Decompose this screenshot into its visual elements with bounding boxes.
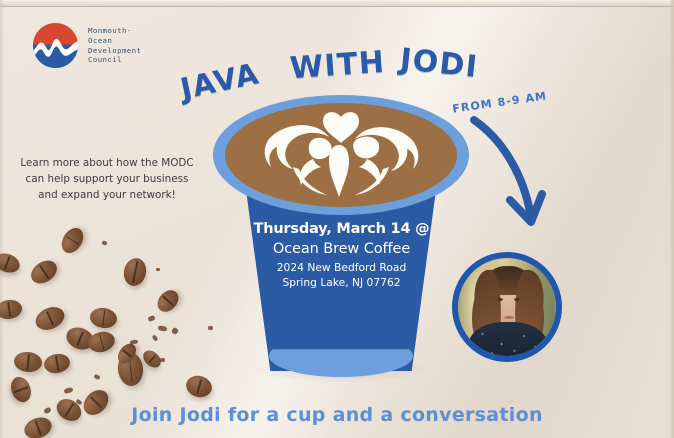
modc-circle-logo-icon: [32, 22, 79, 69]
blurb-text: Learn more about how the MODC can help s…: [8, 155, 206, 203]
portrait-mouth: [504, 316, 514, 319]
left-edge-shade: [0, 0, 4, 438]
avatar: [452, 252, 562, 362]
event-flyer: Monmouth- Ocean Development Council JAVA…: [0, 0, 674, 438]
logo-wordmark: Monmouth- Ocean Development Council: [88, 26, 141, 64]
top-edge-line: [0, 6, 674, 7]
tagline: Join Jodi for a cup and a conversation: [0, 404, 674, 426]
event-details: Thursday, March 14 @ Ocean Brew Coffee 2…: [233, 219, 450, 290]
latte-art-icon: [253, 109, 429, 201]
event-venue: Ocean Brew Coffee: [233, 239, 450, 260]
event-city-state-zip: Spring Lake, NJ 07762: [233, 275, 450, 290]
event-address: 2024 New Bedford Road: [233, 260, 450, 275]
portrait-eye-right: [514, 298, 520, 301]
blurb-line-2: can help support your business: [8, 171, 206, 187]
blurb-line-3: and expand your network!: [8, 187, 206, 203]
blurb-line-1: Learn more about how the MODC: [8, 155, 206, 171]
portrait-blouse: [468, 322, 548, 356]
portrait-eye-left: [497, 298, 503, 301]
right-edge-shade: [669, 0, 674, 438]
logo-block: Monmouth- Ocean Development Council: [32, 22, 141, 69]
event-date: Thursday, March 14 @: [233, 219, 450, 239]
portrait-photo: [458, 258, 556, 356]
